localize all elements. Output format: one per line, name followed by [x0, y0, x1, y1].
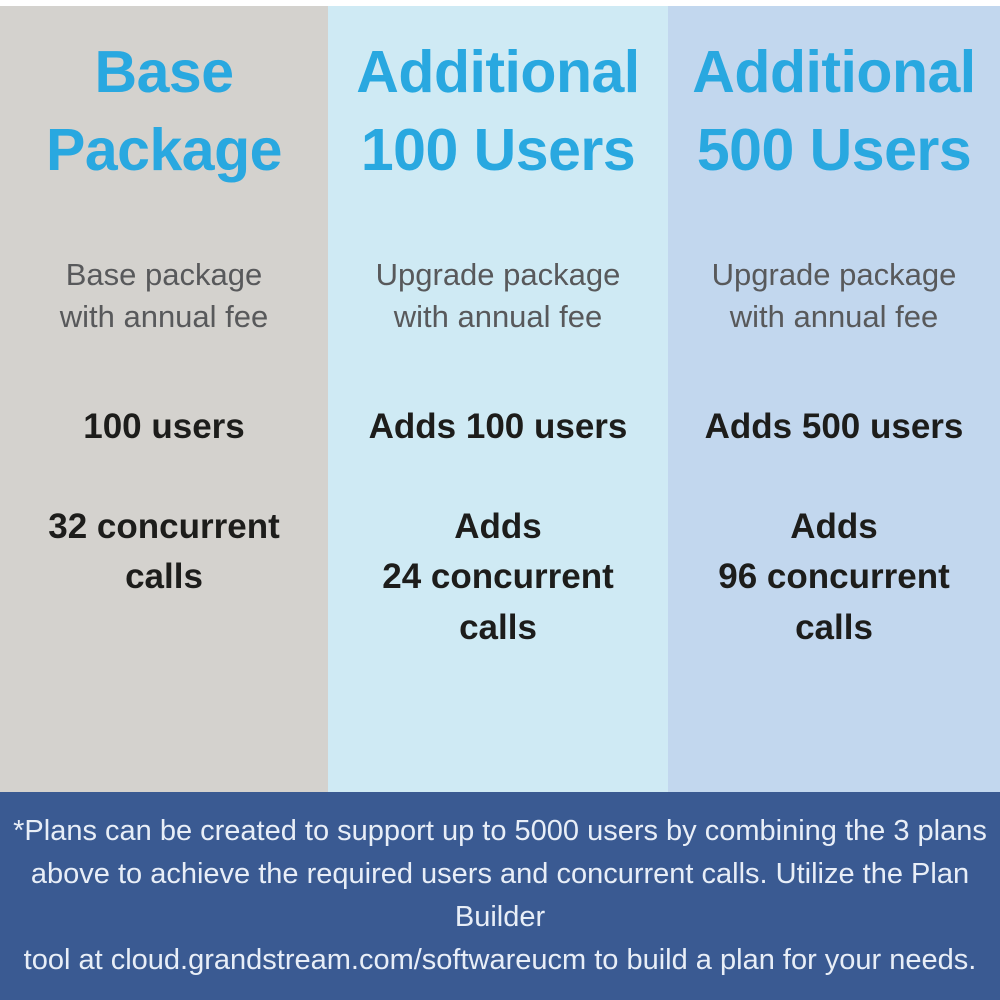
plan-column-additional-500-users: Additional 500 Users Upgrade package wit… [668, 6, 1000, 792]
plan-description: Upgrade package with annual fee [376, 254, 621, 338]
plan-column-additional-100-users: Additional 100 Users Upgrade package wit… [328, 6, 668, 792]
plan-title: Additional 100 Users [356, 34, 639, 190]
plan-concurrent-calls: 32 concurrent calls [48, 502, 279, 604]
plan-description: Base package with annual fee [60, 254, 269, 338]
plan-user-count: Adds 500 users [705, 404, 964, 450]
plan-title: Base Package [46, 34, 282, 190]
plan-columns: Base Package Base package with annual fe… [0, 0, 1000, 792]
plan-concurrent-calls: Adds 96 concurrent calls [718, 502, 949, 654]
plan-user-count: Adds 100 users [369, 404, 628, 450]
footer-note-banner: *Plans can be created to support up to 5… [0, 792, 1000, 1000]
plan-description: Upgrade package with annual fee [712, 254, 957, 338]
plan-concurrent-calls: Adds 24 concurrent calls [382, 502, 613, 654]
plan-user-count: 100 users [83, 404, 245, 450]
plan-column-base-package: Base Package Base package with annual fe… [0, 6, 328, 792]
pricing-comparison-graphic: Base Package Base package with annual fe… [0, 0, 1000, 1000]
footer-note-text: *Plans can be created to support up to 5… [6, 810, 994, 982]
plan-title: Additional 500 Users [692, 34, 975, 190]
